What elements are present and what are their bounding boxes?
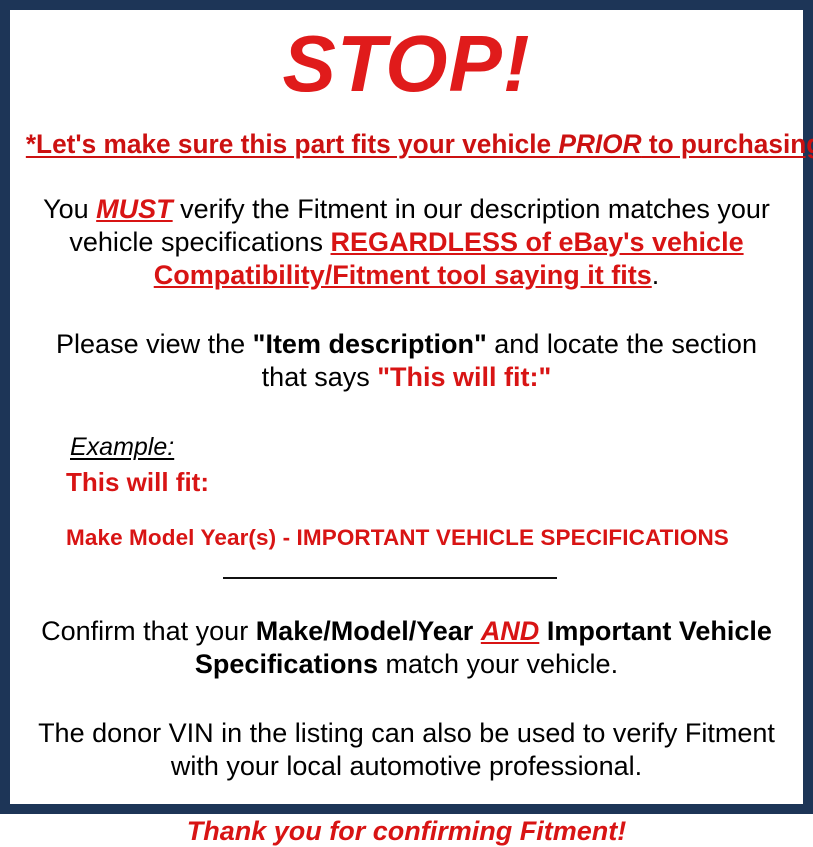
subtitle-line: *Let's make sure this part fits your veh…	[26, 129, 787, 160]
divider-wrap	[22, 577, 791, 587]
example-fit-header: This will fit:	[66, 467, 791, 498]
stop-headline: STOP!	[22, 22, 791, 107]
example-spec-line: Make Model Year(s) - IMPORTANT VEHICLE S…	[66, 525, 791, 551]
confirm-text-4: match your vehicle.	[378, 649, 618, 679]
confirm-text-2	[473, 616, 481, 646]
and-emphasis: AND	[481, 616, 540, 646]
confirm-text-3	[539, 616, 547, 646]
subtitle-emphasis-prior: PRIOR	[558, 129, 641, 159]
make-model-year-emphasis: Make/Model/Year	[256, 616, 474, 646]
must-text-3: .	[652, 260, 660, 290]
view-text-1: Please view the	[56, 329, 253, 359]
example-block: Example: This will fit: Make Model Year(…	[22, 433, 791, 551]
subtitle-after: to purchasing*	[642, 129, 813, 159]
subtitle-before: *Let's make sure this part fits your veh…	[26, 129, 559, 159]
paragraph-view-description: Please view the "Item description" and l…	[22, 328, 791, 394]
thanks-line: Thank you for confirming Fitment!	[22, 816, 791, 847]
example-label: Example:	[70, 433, 174, 462]
fitment-notice-panel: STOP! *Let's make sure this part fits yo…	[0, 0, 813, 814]
section-divider	[223, 577, 557, 579]
item-description-emphasis: "Item description"	[253, 329, 487, 359]
paragraph-must: You MUST verify the Fitment in our descr…	[22, 193, 791, 292]
paragraph-confirm: Confirm that your Make/Model/Year AND Im…	[22, 615, 791, 681]
this-will-fit-emphasis: "This will fit:"	[377, 362, 551, 392]
confirm-text-1: Confirm that your	[41, 616, 256, 646]
must-text-1: You	[43, 194, 96, 224]
paragraph-donor-vin: The donor VIN in the listing can also be…	[22, 717, 791, 783]
must-emphasis: MUST	[96, 194, 173, 224]
notice-content: STOP! *Let's make sure this part fits yo…	[10, 10, 803, 804]
